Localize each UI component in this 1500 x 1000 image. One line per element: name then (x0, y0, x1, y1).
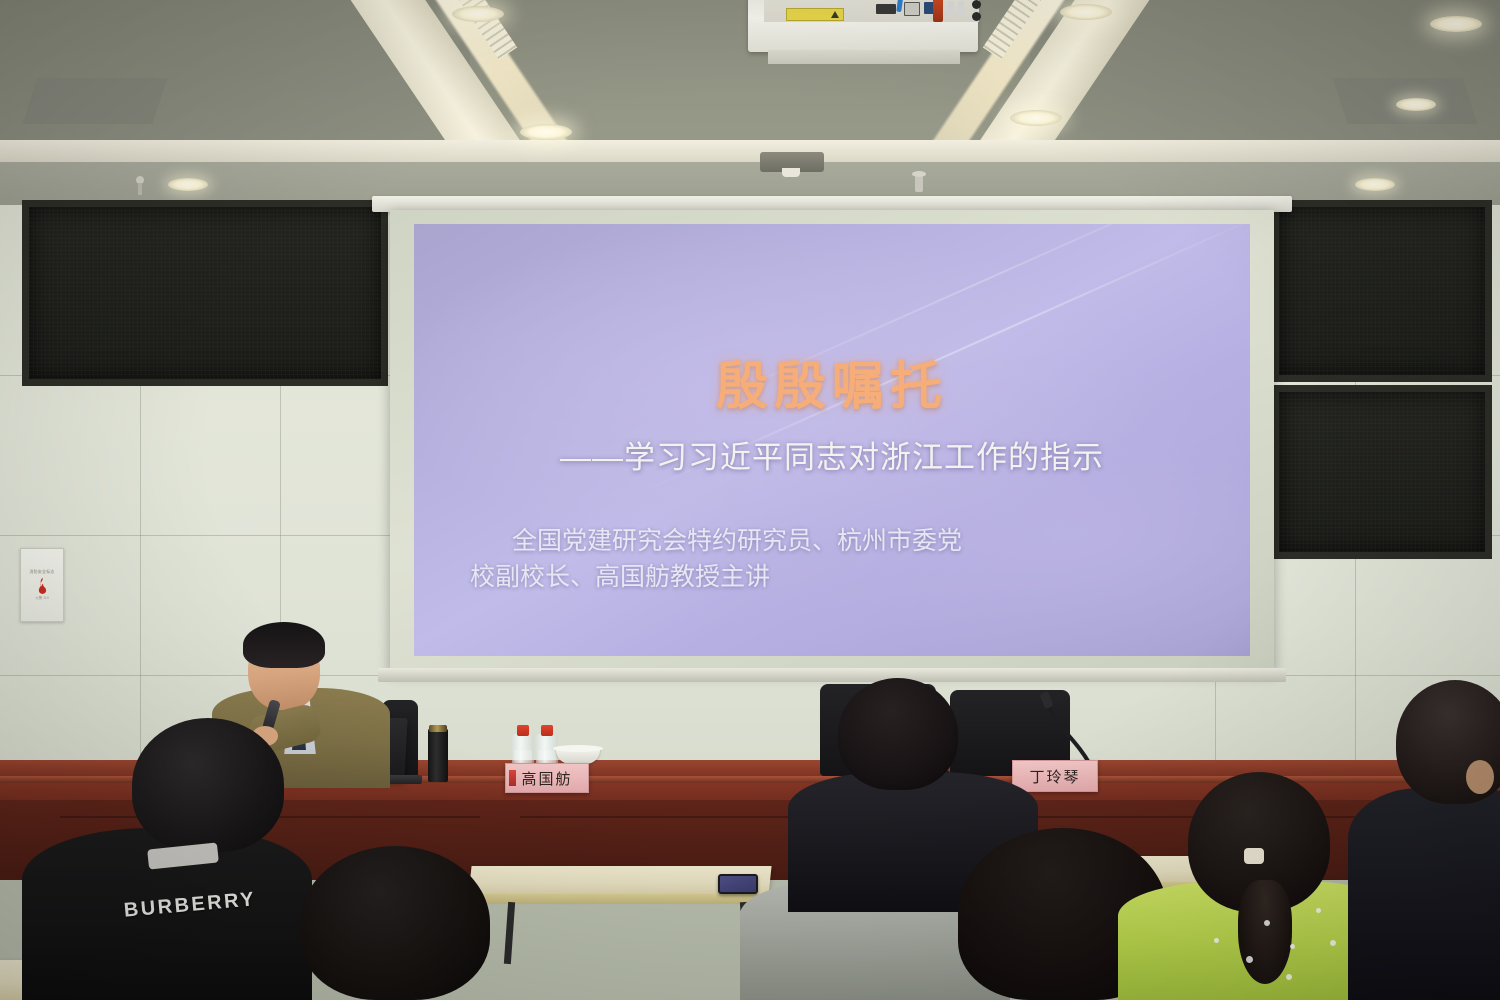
vga-port-icon (876, 4, 896, 14)
panel-mesh-texture (1279, 392, 1485, 552)
usb-port-icon (948, 1, 954, 15)
slide-byline-line2: 校副校长、高国舫教授主讲 (470, 560, 1194, 596)
thermos-flask (428, 728, 448, 782)
projector-port-panel (764, 0, 979, 22)
nameplate-host: 丁玲琴 (1012, 760, 1098, 792)
sequin (1316, 908, 1321, 913)
smartphone (718, 874, 758, 894)
wall-panel-right-upper (1272, 200, 1492, 382)
lecture-hall-photo: 消防安全标志 火警 119 殷殷嘱托 ——学习习近平同志对浙江工作的指示 全国党… (0, 0, 1500, 1000)
ceiling-speaker-device (760, 152, 824, 172)
projector-knob-icon (972, 12, 981, 21)
presentation-slide: 殷殷嘱托 ——学习习近平同志对浙江工作的指示 全国党建研究会特约研究员、杭州市委… (414, 224, 1250, 656)
ceiling (0, 0, 1500, 205)
audience-head (132, 718, 284, 852)
fire-sign-heading: 消防安全标志 (29, 569, 54, 575)
projector-knob-icon (972, 0, 981, 9)
downlight-icon (1010, 110, 1062, 126)
fire-sign-footer: 火警 119 (35, 596, 49, 601)
sequin (1286, 974, 1292, 980)
sequin (1246, 956, 1253, 963)
presenter-hair (243, 622, 325, 668)
slide-byline-line1: 全国党建研究会特约研究员、杭州市委党 (470, 524, 1194, 560)
sequin (1330, 940, 1336, 946)
hair-tie-icon (1244, 848, 1264, 864)
downlight-icon (1355, 178, 1395, 191)
warning-label-icon (786, 8, 844, 21)
suit-jacket (1348, 788, 1500, 1000)
desk-leg (504, 902, 515, 964)
projector-mount-plate (768, 50, 960, 64)
slide-title: 殷殷嘱托 (414, 344, 1250, 419)
nameplate-host-text: 丁玲琴 (1029, 766, 1080, 787)
ceiling-recess-left (23, 78, 168, 124)
table-panel-line (980, 816, 1400, 818)
audience-ear (1466, 760, 1494, 794)
downlight-icon (168, 178, 208, 191)
audience-head (838, 678, 958, 790)
nameplate-speaker-text: 高国舫 (521, 768, 572, 789)
panel-mesh-texture (1279, 207, 1485, 375)
downlight-icon (520, 124, 572, 140)
panel-mesh-texture (29, 207, 381, 379)
slide-byline: 全国党建研究会特约研究员、杭州市委党 校副校长、高国舫教授主讲 (470, 524, 1194, 597)
wall-panel-right-lower (1272, 385, 1492, 559)
projector-screen: 殷殷嘱托 ——学习习近平同志对浙江工作的指示 全国党建研究会特约研究员、杭州市委… (390, 210, 1274, 672)
ceiling-mount-stub (915, 176, 923, 192)
fire-safety-sign: 消防安全标志 火警 119 (20, 548, 64, 622)
nameplate-speaker: 高国舫 (505, 763, 589, 793)
downlight-icon (452, 6, 504, 22)
ethernet-port-icon (904, 2, 920, 16)
flame-icon (35, 577, 50, 594)
sequin (1214, 938, 1219, 943)
projector-screen-weight-bar (378, 668, 1286, 682)
ponytail (1238, 880, 1292, 984)
audience-head (300, 846, 490, 1000)
ceiling-projector (740, 0, 990, 58)
projector-body (748, 0, 978, 52)
downlight-icon (1060, 4, 1112, 20)
white-dish (556, 748, 600, 764)
downlight-icon (1396, 98, 1436, 111)
usb-port-icon (958, 1, 964, 15)
ceiling-soffit (0, 140, 1500, 162)
wall-panel-left (22, 200, 388, 386)
slide-subtitle: ——学习习近平同志对浙江工作的指示 (414, 432, 1250, 477)
projector-connector (933, 0, 943, 22)
sprinkler-icon (134, 176, 146, 196)
downlight-icon (1430, 16, 1482, 32)
sequin (1290, 944, 1295, 949)
sequin (1264, 920, 1270, 926)
nameplate-clip (509, 770, 516, 786)
